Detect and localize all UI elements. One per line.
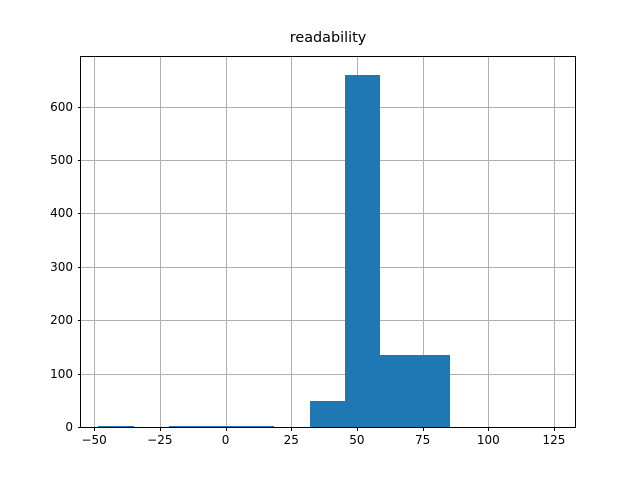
histogram-bar: [380, 355, 415, 427]
gridline-horizontal: [81, 107, 575, 108]
histogram-bar: [169, 426, 204, 428]
gridline-horizontal: [81, 374, 575, 375]
y-axis-tick: [78, 427, 82, 428]
plot-axes: −50−2502550751001250100200300400500600: [80, 56, 576, 428]
x-axis-tick: [357, 427, 358, 431]
x-axis-tick: [423, 427, 424, 431]
x-axis-tick: [160, 427, 161, 431]
x-axis-tick: [94, 427, 95, 431]
chart-title: readability: [80, 29, 576, 47]
y-axis-tick-label: 200: [13, 313, 73, 327]
x-axis-tick: [226, 427, 227, 431]
x-axis-tick-label: 75: [415, 433, 430, 447]
histogram-bar: [204, 426, 239, 428]
plot-area: [81, 57, 575, 427]
histogram-bar: [98, 426, 133, 428]
gridline-vertical: [488, 57, 489, 427]
matplotlib-figure: readability −50−250255075100125010020030…: [0, 0, 640, 480]
y-axis-tick-label: 600: [13, 100, 73, 114]
x-axis-tick: [291, 427, 292, 431]
x-axis-tick-label: 125: [543, 433, 566, 447]
gridline-vertical: [291, 57, 292, 427]
y-axis-tick: [78, 374, 82, 375]
gridline-horizontal: [81, 160, 575, 161]
gridline-vertical: [94, 57, 95, 427]
y-axis-tick-label: 500: [13, 153, 73, 167]
histogram-bar: [310, 401, 345, 427]
y-axis-tick-label: 100: [13, 367, 73, 381]
gridline-vertical: [226, 57, 227, 427]
gridline-vertical: [554, 57, 555, 427]
y-axis-tick-label: 0: [13, 420, 73, 434]
x-axis-tick-label: 100: [477, 433, 500, 447]
x-axis-tick-label: −50: [81, 433, 106, 447]
gridline-vertical: [160, 57, 161, 427]
histogram-bar: [415, 355, 450, 427]
x-axis-tick: [554, 427, 555, 431]
x-axis-tick-label: 50: [349, 433, 364, 447]
y-axis-tick: [78, 213, 82, 214]
x-axis-tick-label: −25: [147, 433, 172, 447]
y-axis-tick: [78, 107, 82, 108]
y-axis-tick-label: 400: [13, 206, 73, 220]
y-axis-tick: [78, 267, 82, 268]
y-axis-tick: [78, 320, 82, 321]
y-axis-tick: [78, 160, 82, 161]
gridline-horizontal: [81, 213, 575, 214]
x-axis-tick-label: 25: [284, 433, 299, 447]
gridline-horizontal: [81, 267, 575, 268]
y-axis-tick-label: 300: [13, 260, 73, 274]
gridline-horizontal: [81, 320, 575, 321]
histogram-bar: [345, 75, 380, 427]
x-axis-tick-label: 0: [222, 433, 230, 447]
x-axis-tick: [488, 427, 489, 431]
histogram-bar: [239, 426, 274, 428]
